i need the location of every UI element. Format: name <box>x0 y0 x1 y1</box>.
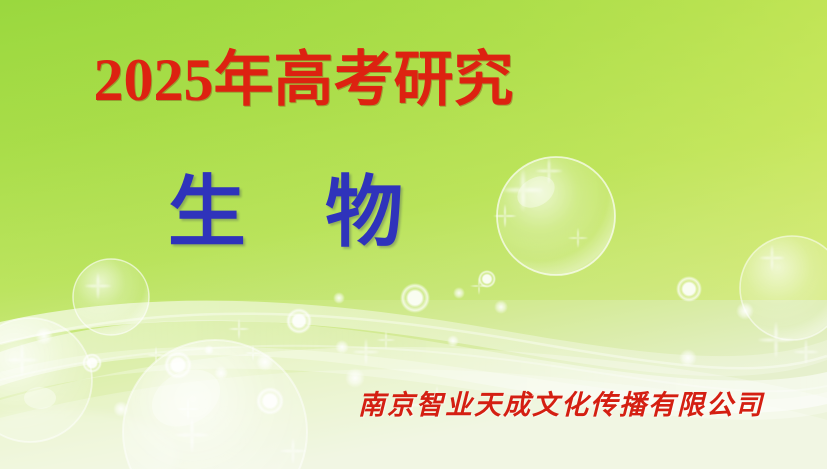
slide-background <box>0 0 827 469</box>
slide-canvas: 2025年高考研究 生 物 南京智业天成文化传播有限公司 <box>0 0 827 469</box>
background-right-tint <box>0 0 827 300</box>
bubble-top-left-small <box>73 259 149 335</box>
